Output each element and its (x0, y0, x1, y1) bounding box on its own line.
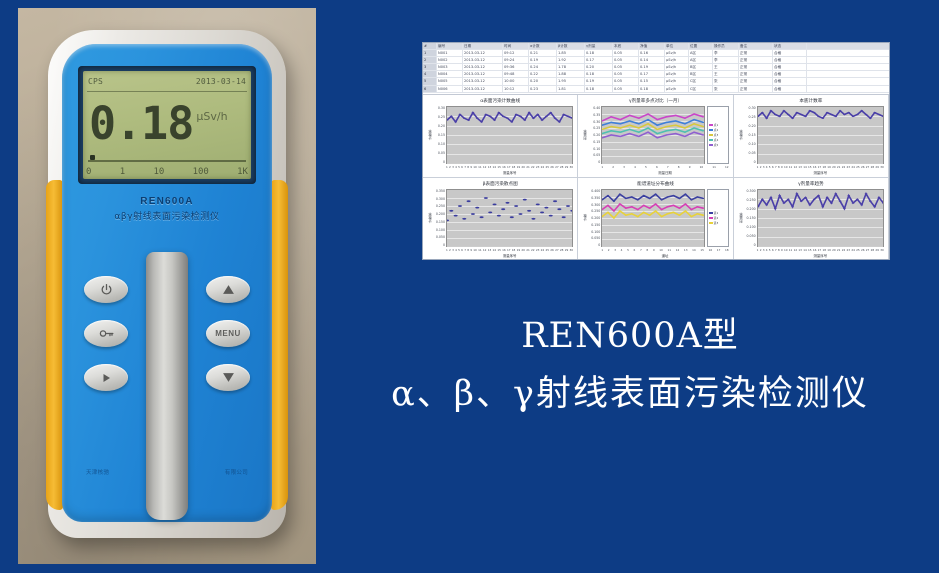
chart-x-tick: 6 (461, 165, 463, 169)
chart-y-tick: 0.300 (591, 203, 600, 207)
chart-x-tick: 17 (507, 248, 511, 252)
chart-y-ticks: 0.300.250.200.150.100.050 (433, 106, 446, 164)
chart-legend-swatch (709, 124, 713, 127)
chart-x-tick: 29 (565, 248, 569, 252)
chart-y-ticks: 0.3000.2500.2000.1500.1000.0500 (744, 189, 757, 247)
spreadsheet-cell: 李 (713, 57, 739, 63)
spreadsheet-cell: 0.05 (613, 86, 639, 92)
chart-x-tick: 14 (493, 248, 497, 252)
chart-series-svg (447, 190, 572, 246)
chart-x-tick: 3 (763, 165, 765, 169)
chart-x-tick: 6 (634, 248, 636, 252)
chart-y-tick: 0.050 (436, 235, 445, 239)
chart-x-tick: 22 (531, 248, 535, 252)
chart-x-tick: 23 (536, 165, 540, 169)
chart-legend-swatch (709, 144, 713, 147)
spreadsheet-cell: 2013-03-12 (463, 78, 503, 84)
lcd-divider (87, 91, 247, 92)
chart-x-tick: 18 (512, 165, 516, 169)
chart-x-ticks: 1234567891011121314151617181920212223242… (427, 165, 573, 169)
spreadsheet-cell: 0.15 (639, 78, 665, 84)
lcd-scale-tick-1: 1 (120, 167, 125, 177)
spreadsheet-cell: 10:00 (503, 78, 529, 84)
spreadsheet-cell: 正常 (739, 71, 773, 77)
chart-y-tick: 0.25 (593, 126, 600, 130)
chart-x-tick: 17 (818, 165, 822, 169)
software-screenshot: #编号日期时间α计数β计数γ剂量本底净值单位位置操作员备注状态1N0012013… (422, 42, 890, 260)
chart-y-tick: 0.40 (593, 106, 600, 110)
caption-model: REN600A型 (330, 315, 930, 359)
spreadsheet-strip: #编号日期时间α计数β计数γ剂量本底净值单位位置操作员备注状态1N0012013… (423, 43, 889, 95)
chart-body: 剂量率0.400.350.300.250.200.150.100.050点1点2… (582, 106, 728, 164)
caption: REN600A型 α、β、γ射线表面污染检测仪 (330, 315, 930, 418)
chart-x-tick: 16 (502, 248, 506, 252)
chart-x-tick: 26 (861, 165, 865, 169)
lcd-scale-tick-3: 100 (193, 167, 209, 177)
chart-legend-label: 点1 (714, 123, 719, 127)
spreadsheet-cell: 1.92 (557, 57, 585, 63)
chart-x-tick: 7 (775, 248, 777, 252)
spreadsheet-cell: 0.20 (585, 64, 613, 70)
spreadsheet-cell: 09:48 (503, 71, 529, 77)
chart-x-tick: 11 (712, 165, 716, 169)
lcd-bezel: CPS 2013-03-14 0.18 μSv/h 01101001K (78, 66, 256, 184)
spreadsheet-cell: C区 (689, 86, 713, 92)
device-description-label: αβγ射线表面污染检测仪 (62, 209, 272, 222)
chart-x-tick: 3 (452, 165, 454, 169)
chart-y-tick: 0.25 (749, 115, 756, 119)
chart-x-tick: 1 (446, 248, 448, 252)
chart-legend-swatch (709, 212, 713, 215)
lcd-scale: 01101001K (86, 167, 248, 177)
spreadsheet-cell: 0.24 (529, 64, 557, 70)
chart-x-tick: 1 (601, 248, 603, 252)
chart-legend-item: 道1 (709, 211, 727, 215)
spreadsheet-header-cell: 编号 (437, 43, 463, 49)
spreadsheet-cell: 正常 (739, 57, 773, 63)
spreadsheet-cell: 0.23 (529, 86, 557, 92)
spreadsheet-cell: 正常 (739, 86, 773, 92)
chart-x-ticks: 1234567891011121314151617181920212223242… (738, 165, 884, 169)
chart-y-tick: 0.250 (747, 198, 756, 202)
detector-device: CPS 2013-03-14 0.18 μSv/h 01101001K (48, 30, 286, 538)
chart-body: 计数率0.300.250.200.150.100.050 (738, 106, 884, 164)
chart-grid: α表面污染计数曲线计数率0.300.250.200.150.100.050123… (423, 95, 889, 260)
chart-x-tick: 12 (794, 248, 798, 252)
chart-x-axis-label: 测量序号 (738, 170, 884, 175)
spreadsheet-cell: 1.81 (557, 86, 585, 92)
chart-legend-label: 点5 (714, 143, 719, 147)
chart-x-tick: 1 (757, 248, 759, 252)
spreadsheet-header-cell: 位置 (689, 43, 713, 49)
chart-panel: 能谱道址分布曲线计数0.4000.3500.3000.2500.2000.150… (578, 178, 733, 260)
chart-x-tick: 9 (653, 248, 655, 252)
chart-x-tick: 7 (667, 165, 669, 169)
chart-x-tick: 15 (497, 248, 501, 252)
spreadsheet-cell: 0.05 (613, 50, 639, 56)
chart-y-ticks: 0.3500.3000.2500.2000.1500.1000.0500 (433, 189, 446, 247)
chart-x-tick: 6 (656, 165, 658, 169)
chart-gridline (758, 163, 883, 164)
chart-x-tick: 4 (455, 165, 457, 169)
chart-x-tick: 26 (861, 248, 865, 252)
spreadsheet-header-cell: α计数 (529, 43, 557, 49)
spreadsheet-cell: 合格 (773, 78, 807, 84)
spreadsheet-cell: 合格 (773, 64, 807, 70)
chart-y-tick: 0.150 (747, 216, 756, 220)
chart-plot-area (757, 106, 884, 164)
chart-x-tick: 7 (775, 165, 777, 169)
product-photo: CPS 2013-03-14 0.18 μSv/h 01101001K (18, 8, 316, 564)
spreadsheet-cell: 5 (423, 78, 437, 84)
chart-body: 计数率0.300.250.200.150.100.050 (427, 106, 573, 164)
chart-x-tick: 30 (570, 165, 574, 169)
play-button[interactable] (84, 364, 128, 391)
spreadsheet-header-cell: 备注 (739, 43, 773, 49)
chart-x-tick: 30 (880, 165, 884, 169)
play-icon (100, 372, 112, 384)
chart-x-tick: 21 (526, 165, 530, 169)
chart-x-tick: 29 (875, 248, 879, 252)
chart-y-tick: 0.30 (438, 106, 445, 110)
chart-y-tick: 0.05 (438, 151, 445, 155)
chart-y-axis-label: 计数率 (738, 106, 744, 164)
chart-x-tick: 8 (646, 248, 648, 252)
chart-legend-item: 道2 (709, 216, 727, 220)
chart-x-tick: 2 (449, 248, 451, 252)
chart-x-tick: 16 (813, 165, 817, 169)
chart-x-tick: 15 (497, 165, 501, 169)
spreadsheet-cell: 09:24 (503, 57, 529, 63)
chart-plot-area (601, 189, 704, 247)
spreadsheet-cell: N006 (437, 86, 463, 92)
spreadsheet-cell: 正常 (739, 64, 773, 70)
chart-title: α表面污染计数曲线 (427, 98, 573, 104)
chart-legend-label: 点3 (714, 133, 719, 137)
chart-x-tick: 27 (555, 248, 559, 252)
bumper-left (46, 180, 63, 510)
spreadsheet-cell: 0.20 (529, 78, 557, 84)
chart-legend-item: 点1 (709, 123, 727, 127)
chart-x-tick: 7 (464, 248, 466, 252)
chart-y-tick: 0.100 (591, 230, 600, 234)
chart-x-tick: 22 (531, 165, 535, 169)
spreadsheet-cell: μSv/h (665, 71, 689, 77)
chart-x-tick: 11 (667, 248, 671, 252)
chart-x-tick: 17 (507, 165, 511, 169)
chart-y-ticks: 0.400.350.300.250.200.150.100.050 (588, 106, 601, 164)
chart-x-tick: 8 (778, 165, 780, 169)
chart-y-axis-label: 计数率 (427, 189, 433, 247)
chart-x-axis-label: 测量序号 (427, 170, 573, 175)
chart-x-tick: 17 (717, 248, 721, 252)
chart-x-tick: 19 (517, 165, 521, 169)
chart-x-tick: 9 (470, 248, 472, 252)
chart-x-tick: 9 (781, 165, 783, 169)
chart-x-tick: 9 (689, 165, 691, 169)
chart-x-tick: 21 (837, 165, 841, 169)
spreadsheet-cell: 0.16 (639, 50, 665, 56)
spreadsheet-cell: N001 (437, 50, 463, 56)
spreadsheet-cell: 0.18 (585, 71, 613, 77)
spreadsheet-header-cell: 日期 (463, 43, 503, 49)
spreadsheet-cell: 2013-03-12 (463, 50, 503, 56)
chart-panel: 本底计数率计数率0.300.250.200.150.100.0501234567… (734, 95, 889, 178)
chart-title: 能谱道址分布曲线 (582, 181, 728, 187)
chart-y-tick: 0.20 (749, 124, 756, 128)
chart-y-tick: 0.150 (436, 220, 445, 224)
chart-y-tick: 0 (443, 243, 445, 247)
chart-series-svg (447, 107, 572, 163)
lcd-reading: 0.18 μSv/h (89, 94, 247, 152)
chart-x-tick: 10 (659, 248, 663, 252)
chart-body: 剂量率0.3000.2500.2000.1500.1000.0500 (738, 189, 884, 247)
chart-title: γ剂量率趋势 (738, 181, 884, 187)
chart-x-axis-label: 道址 (582, 253, 728, 258)
chart-body: 计数0.4000.3500.3000.2500.2000.1500.1000.0… (582, 189, 728, 247)
chart-gridline (447, 163, 572, 164)
spreadsheet-cell: 王 (713, 64, 739, 70)
spreadsheet-cell: 1.95 (557, 78, 585, 84)
chart-y-tick: 0 (754, 160, 756, 164)
chart-x-tick: 11 (478, 165, 482, 169)
chart-legend: 点1点2点3点4点5 (707, 106, 729, 164)
chart-x-tick: 29 (565, 165, 569, 169)
chart-legend-swatch (709, 139, 713, 142)
chart-x-tick: 29 (875, 165, 879, 169)
spreadsheet-cell: 09:12 (503, 50, 529, 56)
chart-x-tick: 26 (550, 165, 554, 169)
spreadsheet-cell: 正常 (739, 78, 773, 84)
chart-x-tick: 12 (483, 248, 487, 252)
chart-y-tick: 0.350 (591, 196, 600, 200)
spreadsheet-cell: 0.18 (639, 86, 665, 92)
chart-y-ticks: 0.4000.3500.3000.2500.2000.1500.1000.050… (588, 189, 601, 247)
chart-series-svg (602, 107, 703, 163)
spreadsheet-cell: 1.88 (557, 71, 585, 77)
chart-x-tick: 30 (880, 248, 884, 252)
chart-x-tick: 28 (560, 248, 564, 252)
spreadsheet-header-cell: β计数 (557, 43, 585, 49)
chart-x-ticks: 123456789101112 (582, 165, 728, 169)
spreadsheet-cell: 合格 (773, 86, 807, 92)
chart-x-tick: 11 (789, 165, 793, 169)
spreadsheet-cell: 0.17 (639, 71, 665, 77)
chart-x-tick: 28 (871, 165, 875, 169)
chart-x-tick: 1 (446, 165, 448, 169)
chart-y-tick: 0.100 (747, 225, 756, 229)
spreadsheet-cell: 张 (713, 78, 739, 84)
spreadsheet-cell: 4 (423, 71, 437, 77)
spreadsheet-cell: 合格 (773, 57, 807, 63)
spreadsheet-cell: A区 (689, 57, 713, 63)
spreadsheet-cell: μSv/h (665, 64, 689, 70)
chart-y-tick: 0.200 (591, 216, 600, 220)
chart-x-tick: 7 (640, 248, 642, 252)
chart-x-tick: 27 (866, 165, 870, 169)
chart-plot-area (601, 106, 704, 164)
chart-x-tick: 9 (781, 248, 783, 252)
lcd-status-bar: CPS 2013-03-14 (88, 74, 246, 89)
chart-y-tick: 0.15 (438, 133, 445, 137)
spreadsheet-cell: C区 (689, 78, 713, 84)
chart-x-tick: 10 (700, 165, 704, 169)
chart-y-tick: 0.20 (438, 124, 445, 128)
spreadsheet-row: 2N0022013-03-1209:240.191.920.170.050.14… (423, 57, 889, 64)
spreadsheet-cell: 2013-03-12 (463, 57, 503, 63)
spreadsheet-cell: 0.05 (613, 64, 639, 70)
chart-x-tick: 18 (512, 248, 516, 252)
chart-panel: α表面污染计数曲线计数率0.300.250.200.150.100.050123… (423, 95, 578, 178)
spreadsheet-header-cell: # (423, 43, 437, 49)
lcd-status-left: CPS (88, 77, 103, 86)
spreadsheet-cell: 2 (423, 57, 437, 63)
chart-x-tick: 23 (847, 165, 851, 169)
chart-body: 计数率0.3500.3000.2500.2000.1500.1000.0500 (427, 189, 573, 247)
chart-x-tick: 12 (483, 165, 487, 169)
chart-x-ticks: 1234567891011121314151617181920212223242… (738, 248, 884, 252)
chart-x-tick: 16 (813, 248, 817, 252)
chart-y-tick: 0.30 (749, 106, 756, 110)
chart-x-tick: 13 (798, 248, 802, 252)
spreadsheet-cell: μSv/h (665, 78, 689, 84)
chart-legend-item: 点3 (709, 133, 727, 137)
menu-button-label: MENU (215, 329, 241, 338)
chart-x-axis-label: 测量序号 (427, 253, 573, 258)
spreadsheet-cell: 张 (713, 86, 739, 92)
chart-x-tick: 6 (772, 165, 774, 169)
spreadsheet-cell: 1 (423, 50, 437, 56)
chart-x-tick: 24 (541, 165, 545, 169)
footer-left-text: 天津核驰 (86, 468, 109, 476)
spreadsheet-header-cell: γ剂量 (585, 43, 613, 49)
chart-x-tick: 10 (473, 165, 477, 169)
down-button[interactable] (206, 364, 250, 391)
menu-button[interactable]: MENU (206, 320, 250, 347)
chart-x-tick: 19 (827, 248, 831, 252)
chart-x-tick: 8 (678, 165, 680, 169)
chart-x-tick: 22 (842, 165, 846, 169)
lcd-bar-marker (90, 155, 95, 160)
lcd-status-right: 2013-03-14 (196, 77, 246, 86)
chart-x-tick: 5 (627, 248, 629, 252)
chart-x-tick: 3 (763, 248, 765, 252)
chart-x-tick: 26 (550, 248, 554, 252)
chart-x-tick: 10 (473, 248, 477, 252)
spreadsheet-cell: 合格 (773, 50, 807, 56)
chart-gridline (602, 246, 703, 247)
spreadsheet-cell: 0.14 (639, 57, 665, 63)
chart-x-tick: 18 (822, 165, 826, 169)
spreadsheet-cell: 09:36 (503, 64, 529, 70)
lcd-scale-tick-0: 0 (86, 167, 91, 177)
chart-x-axis-label: 测量日期 (582, 170, 728, 175)
chart-x-tick: 24 (851, 248, 855, 252)
spreadsheet-row: 6N0062013-03-1210:120.231.810.180.050.18… (423, 86, 889, 93)
spreadsheet-header-cell: 时间 (503, 43, 529, 49)
chart-x-tick: 11 (478, 248, 482, 252)
chart-y-tick: 0.200 (436, 212, 445, 216)
chart-plot-area (446, 106, 573, 164)
chart-series-svg (758, 190, 883, 246)
chart-x-tick: 21 (837, 248, 841, 252)
spreadsheet-cell: B区 (689, 71, 713, 77)
chart-y-tick: 0.15 (593, 140, 600, 144)
spreadsheet-cell: 正常 (739, 50, 773, 56)
chart-x-tick: 2 (760, 248, 762, 252)
bumper-right (271, 180, 288, 510)
chart-y-axis-label: 剂量率 (738, 189, 744, 247)
up-button[interactable] (206, 276, 250, 303)
chart-x-tick: 20 (832, 165, 836, 169)
spreadsheet-header-cell: 单位 (665, 43, 689, 49)
chart-x-tick: 13 (684, 248, 688, 252)
chart-x-tick: 10 (784, 248, 788, 252)
chart-x-tick: 28 (560, 165, 564, 169)
chart-y-tick: 0.10 (749, 142, 756, 146)
chart-x-tick: 30 (570, 248, 574, 252)
chart-plot-area (757, 189, 884, 247)
spreadsheet-cell: 0.19 (585, 78, 613, 84)
chart-y-axis-label: 剂量率 (582, 106, 588, 164)
chart-x-tick: 19 (517, 248, 521, 252)
chart-y-tick: 0.25 (438, 115, 445, 119)
search-button[interactable] (84, 320, 128, 347)
chart-y-axis-label: 计数率 (427, 106, 433, 164)
chart-y-tick: 0.20 (593, 133, 600, 137)
chart-series-svg (758, 107, 883, 163)
chart-title: γ剂量率多点对比（一月） (582, 98, 728, 104)
chart-x-tick: 24 (541, 248, 545, 252)
chart-x-tick: 5 (769, 248, 771, 252)
chart-x-tick: 12 (725, 165, 729, 169)
chart-x-tick: 2 (608, 248, 610, 252)
chart-x-tick: 14 (803, 248, 807, 252)
chart-x-tick: 6 (461, 248, 463, 252)
chart-x-tick: 4 (766, 165, 768, 169)
chart-x-tick: 12 (676, 248, 680, 252)
footer-right-text: 有限公司 (225, 468, 248, 476)
chart-legend-item: 点2 (709, 128, 727, 132)
chart-legend-label: 点2 (714, 128, 719, 132)
chart-x-tick: 5 (769, 165, 771, 169)
chart-legend-item: 点5 (709, 143, 727, 147)
key-icon (99, 328, 114, 339)
chart-x-tick: 15 (808, 248, 812, 252)
spreadsheet-row: 5N0052013-03-1210:000.201.950.190.050.15… (423, 78, 889, 85)
chart-x-tick: 4 (766, 248, 768, 252)
chart-x-tick: 27 (555, 165, 559, 169)
chart-y-tick: 0.05 (593, 153, 600, 157)
chart-y-tick: 0.05 (749, 151, 756, 155)
spreadsheet-cell: 10:12 (503, 86, 529, 92)
lcd-value: 0.18 (89, 101, 193, 146)
lcd-scale-tick-4: 1K (237, 167, 248, 177)
chart-x-tick: 3 (614, 248, 616, 252)
spreadsheet-cell: 1.78 (557, 64, 585, 70)
chart-x-tick: 23 (536, 248, 540, 252)
chart-y-tick: 0 (598, 160, 600, 164)
power-button[interactable] (84, 276, 128, 303)
spreadsheet-cell: 0.18 (585, 50, 613, 56)
chart-title: 本底计数率 (738, 98, 884, 104)
chart-x-tick: 14 (803, 165, 807, 169)
chart-legend-swatch (709, 129, 713, 132)
chart-x-tick: 5 (458, 165, 460, 169)
chart-x-tick: 12 (794, 165, 798, 169)
chart-gridline (602, 163, 703, 164)
chart-x-tick: 25 (856, 165, 860, 169)
